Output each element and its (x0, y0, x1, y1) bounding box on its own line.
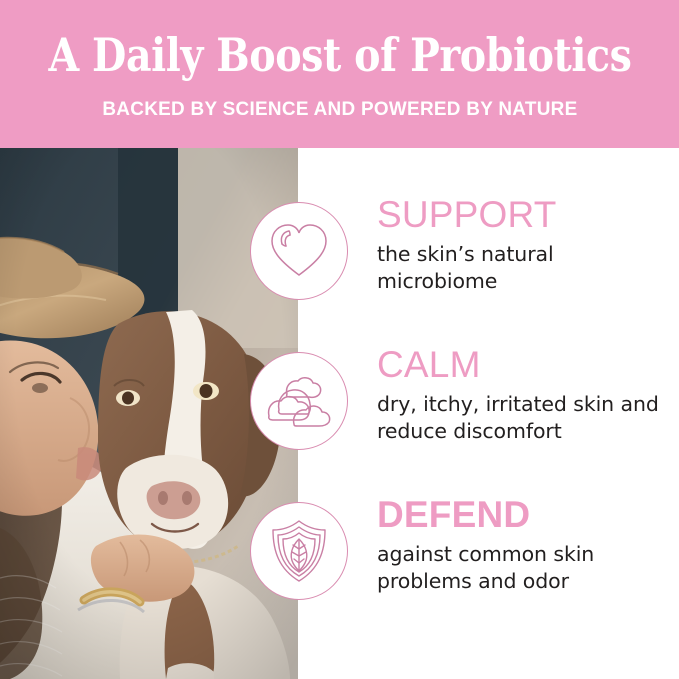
page-title: A Daily Boost of Probiotics (48, 31, 631, 79)
feature-support-body: the skin’s natural microbiome (377, 241, 673, 294)
feature-calm-heading: CALM (377, 346, 673, 383)
shield-leaf-icon (250, 502, 348, 600)
feature-support-text: SUPPORT the skin’s natural microbiome (377, 196, 673, 294)
feature-defend-body: against common skin problems and odor (377, 541, 673, 594)
feature-defend: DEFEND against common skin problems and … (0, 496, 679, 644)
heart-icon (250, 202, 348, 300)
feature-defend-text: DEFEND against common skin problems and … (377, 496, 673, 594)
feature-calm-text: CALM dry, itchy, irritated skin and redu… (377, 346, 673, 444)
feature-calm-body: dry, itchy, irritated skin and reduce di… (377, 391, 673, 444)
clouds-icon (250, 352, 348, 450)
page-subtitle: BACKED BY SCIENCE AND POWERED BY NATURE (102, 98, 577, 121)
feature-support-heading: SUPPORT (377, 196, 673, 233)
feature-support: SUPPORT the skin’s natural microbiome (0, 196, 679, 344)
feature-defend-heading: DEFEND (377, 496, 673, 533)
header-banner: A Daily Boost of Probiotics BACKED BY SC… (0, 0, 679, 148)
feature-calm: CALM dry, itchy, irritated skin and redu… (0, 346, 679, 494)
